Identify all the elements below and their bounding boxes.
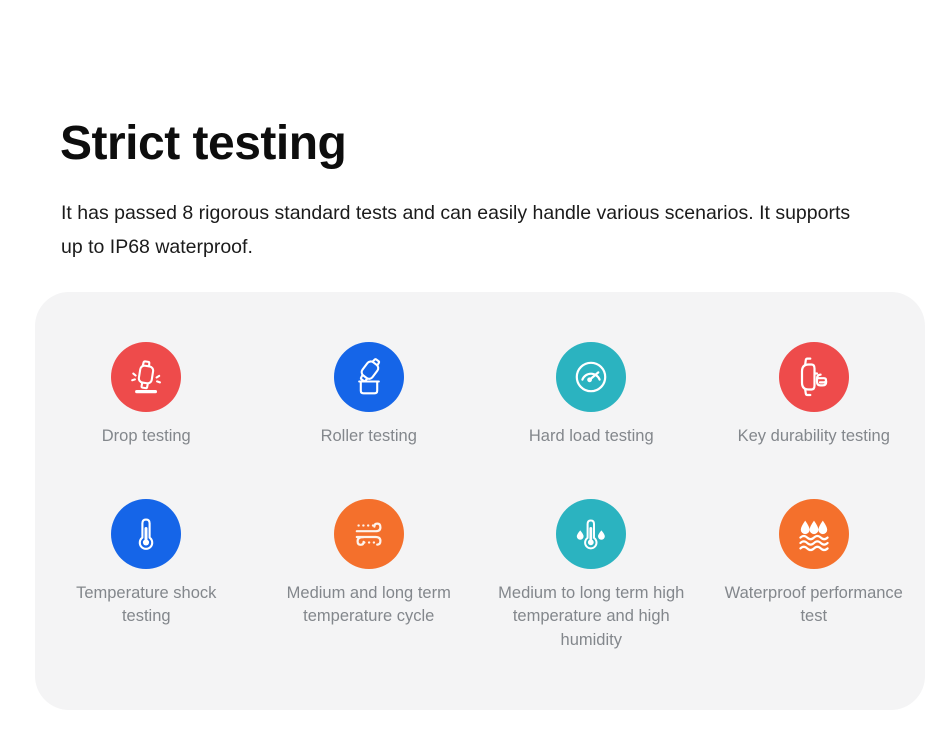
- thermometer-icon: [124, 512, 168, 556]
- temperature-shock-icon-circle: [111, 499, 181, 569]
- test-item-temperature-cycle[interactable]: Medium and long term temperature cycle: [258, 499, 481, 653]
- test-label: Temperature shock testing: [51, 582, 241, 629]
- test-label: Key durability testing: [738, 425, 890, 449]
- test-label: Waterproof performance test: [719, 582, 909, 629]
- hard-load-testing-icon-circle: [556, 342, 626, 412]
- watch-drop-impact-icon: [124, 355, 168, 399]
- roller-testing-icon-circle: [334, 342, 404, 412]
- drop-testing-icon-circle: [111, 342, 181, 412]
- tests-card: Drop testing: [35, 292, 925, 710]
- waterproof-performance-icon-circle: [779, 499, 849, 569]
- gauge-speedometer-icon: [569, 355, 613, 399]
- temperature-cycle-icon-circle: [334, 499, 404, 569]
- thermometer-humidity-droplets-icon: [569, 512, 613, 556]
- wind-airflow-icon: [347, 512, 391, 556]
- test-label: Drop testing: [102, 425, 191, 449]
- test-item-roller-testing[interactable]: Roller testing: [258, 342, 481, 449]
- test-item-key-durability-testing[interactable]: Key durability testing: [703, 342, 926, 449]
- test-item-temperature-shock-testing[interactable]: Temperature shock testing: [35, 499, 258, 653]
- test-item-waterproof-performance[interactable]: Waterproof performance test: [703, 499, 926, 653]
- test-label: Medium to long term high temperature and…: [496, 582, 686, 653]
- page-subtitle: It has passed 8 rigorous standard tests …: [61, 196, 861, 264]
- strict-testing-page: Strict testing It has passed 8 rigorous …: [0, 0, 950, 753]
- test-label: Medium and long term temperature cycle: [274, 582, 464, 629]
- test-label: Hard load testing: [529, 425, 654, 449]
- test-item-high-temp-humidity[interactable]: Medium to long term high temperature and…: [480, 499, 703, 653]
- test-label: Roller testing: [321, 425, 417, 449]
- test-item-drop-testing[interactable]: Drop testing: [35, 342, 258, 449]
- tests-row-2: Temperature shock testing: [35, 499, 925, 653]
- key-durability-testing-icon-circle: [779, 342, 849, 412]
- water-droplets-waves-icon: [792, 512, 836, 556]
- watch-tumble-drum-icon: [347, 355, 391, 399]
- page-title: Strict testing: [60, 118, 346, 171]
- high-temp-humidity-icon-circle: [556, 499, 626, 569]
- tests-grid: Drop testing: [35, 292, 925, 710]
- test-item-hard-load-testing[interactable]: Hard load testing: [480, 342, 703, 449]
- watch-button-press-hand-icon: [789, 352, 839, 402]
- tests-row-1: Drop testing: [35, 342, 925, 449]
